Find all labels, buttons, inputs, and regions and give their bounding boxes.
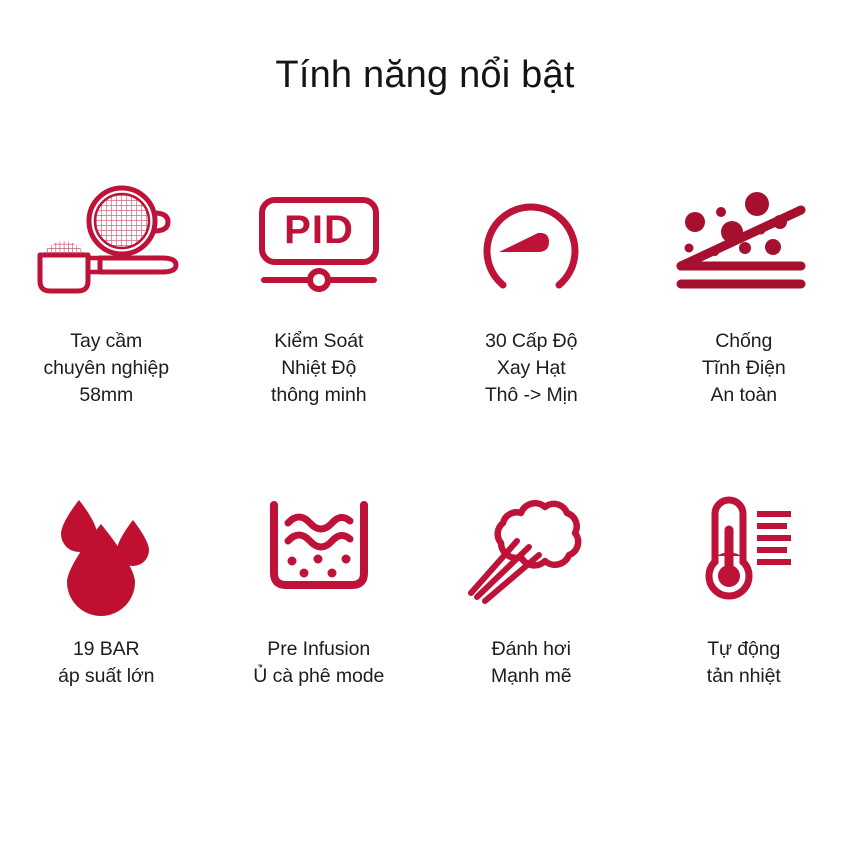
steam-cloud-icon	[451, 490, 611, 610]
gauge-speedometer-icon	[451, 180, 611, 310]
feature-caption: Đánh hơi Mạnh mẽ	[491, 636, 572, 690]
feature-caption: 19 BAR áp suất lớn	[58, 636, 154, 690]
feature-item-heat-dissipation: Tự động tản nhiệt	[638, 490, 850, 740]
feature-caption: Pre Infusion Ủ cà phê mode	[253, 636, 384, 690]
feature-item-pid: PID Kiểm Soát Nhiệt Độ thông minh	[213, 180, 426, 430]
features-grid: Tay cầm chuyên nghiệp 58mm PID Kiểm Soát…	[0, 180, 850, 740]
feature-item-steam: Đánh hơi Mạnh mẽ	[425, 490, 638, 740]
anti-static-particles-icon	[664, 180, 824, 310]
feature-caption: Chống Tĩnh Điện An toàn	[702, 328, 786, 409]
pid-controller-icon: PID	[239, 180, 399, 310]
thermometer-icon	[664, 490, 824, 610]
water-droplets-icon	[26, 490, 186, 610]
feature-caption: Tay cầm chuyên nghiệp 58mm	[43, 328, 169, 409]
svg-text:PID: PID	[284, 208, 354, 252]
feature-caption: 30 Cấp Độ Xay Hạt Thô -> Mịn	[485, 328, 578, 409]
feature-highlights-page: Tính năng nổi bật	[0, 0, 850, 850]
feature-caption: Kiểm Soát Nhiệt Độ thông minh	[271, 328, 366, 409]
feature-item-pressure: 19 BAR áp suất lớn	[0, 490, 213, 740]
portafilter-basket-icon	[26, 180, 186, 310]
feature-caption: Tự động tản nhiệt	[707, 636, 781, 690]
feature-item-anti-static: Chống Tĩnh Điện An toàn	[638, 180, 850, 430]
page-title: Tính năng nổi bật	[0, 52, 850, 100]
feature-item-grind-levels: 30 Cấp Độ Xay Hạt Thô -> Mịn	[425, 180, 638, 430]
feature-item-pre-infusion: Pre Infusion Ủ cà phê mode	[213, 490, 426, 740]
feature-item-portafilter: Tay cầm chuyên nghiệp 58mm	[0, 180, 213, 430]
basin-waves-icon	[239, 490, 399, 610]
